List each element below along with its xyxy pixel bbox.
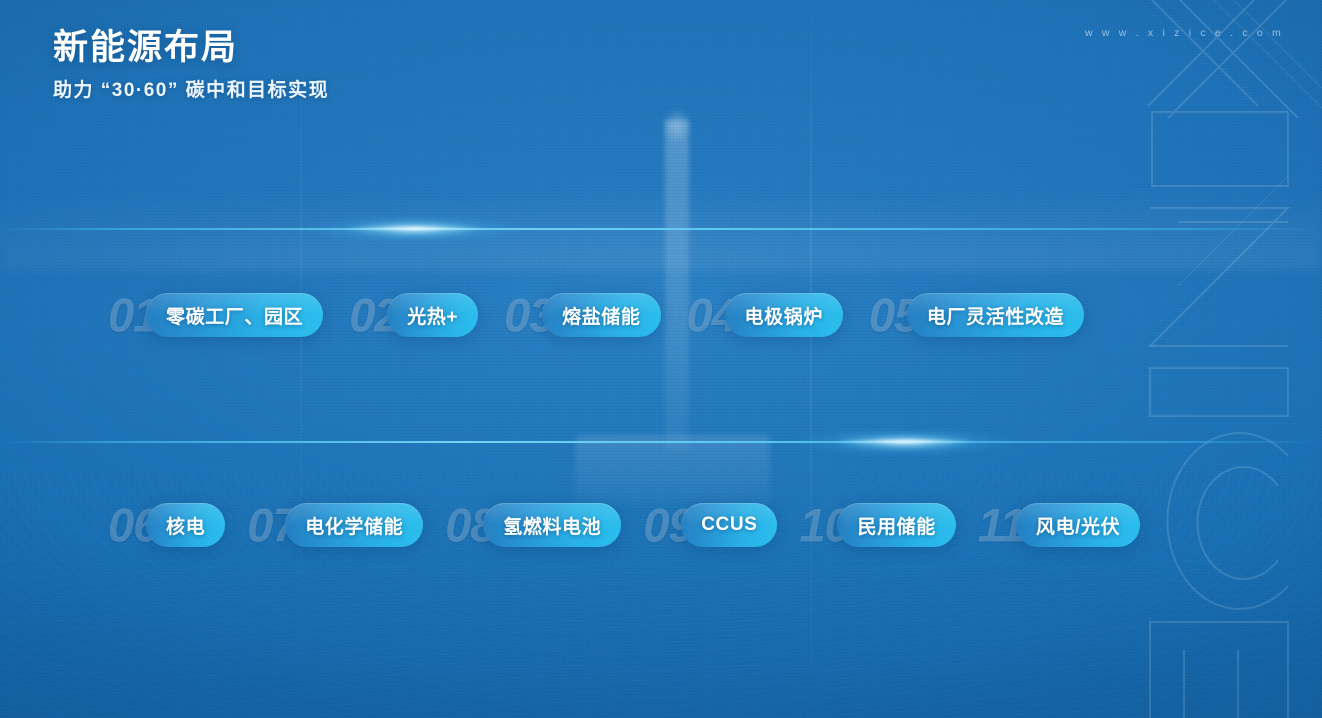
item-pill[interactable]: 风电/光伏 (1016, 503, 1140, 547)
item-pill[interactable]: 电厂灵活性改造 (907, 293, 1084, 337)
row-1: 01 零碳工厂、园区 02 光热+ 03 熔盐储能 04 电极锅炉 05 电厂灵… (108, 287, 1084, 343)
divider-glow-core (340, 226, 490, 231)
list-item[interactable]: 06 核电 (108, 497, 225, 553)
page-title: 新能源布局 (53, 26, 329, 70)
item-pill[interactable]: 零碳工厂、园区 (146, 293, 323, 337)
divider-line (0, 441, 1322, 443)
header: 新能源布局 助力 “30·60” 碳中和目标实现 (53, 26, 329, 103)
list-item[interactable]: 08 氢燃料电池 (445, 497, 621, 553)
item-pill[interactable]: 核电 (146, 503, 225, 547)
row-2: 06 核电 07 电化学储能 08 氢燃料电池 09 CCUS 10 民用储能 … (108, 497, 1140, 553)
item-pill[interactable]: 光热+ (387, 293, 478, 337)
site-url: w w w . x i z i c e . c o m (1085, 27, 1284, 39)
list-item[interactable]: 01 零碳工厂、园区 (108, 287, 323, 343)
divider-lower (0, 441, 1322, 443)
list-item[interactable]: 07 电化学储能 (247, 497, 423, 553)
list-item[interactable]: 11 风电/光伏 (978, 497, 1140, 553)
divider-glow-core (830, 439, 980, 444)
item-pill[interactable]: 熔盐储能 (542, 293, 660, 337)
list-item[interactable]: 05 电厂灵活性改造 (869, 287, 1084, 343)
list-item[interactable]: 02 光热+ (349, 287, 478, 343)
list-item[interactable]: 09 CCUS (643, 497, 777, 553)
page-subtitle: 助力 “30·60” 碳中和目标实现 (53, 79, 329, 104)
list-item[interactable]: 03 熔盐储能 (504, 287, 660, 343)
item-pill[interactable]: 氢燃料电池 (483, 503, 621, 547)
vignette-overlay (0, 0, 1322, 718)
item-pill[interactable]: 民用储能 (837, 503, 955, 547)
divider-line (0, 228, 1322, 230)
divider-upper (0, 228, 1322, 230)
slide-canvas: 新能源布局 助力 “30·60” 碳中和目标实现 w w w . x i z i… (0, 0, 1322, 718)
item-pill[interactable]: CCUS (681, 503, 777, 547)
item-pill[interactable]: 电极锅炉 (725, 293, 843, 337)
list-item[interactable]: 04 电极锅炉 (687, 287, 843, 343)
list-item[interactable]: 10 民用储能 (799, 497, 955, 553)
item-pill[interactable]: 电化学储能 (285, 503, 423, 547)
